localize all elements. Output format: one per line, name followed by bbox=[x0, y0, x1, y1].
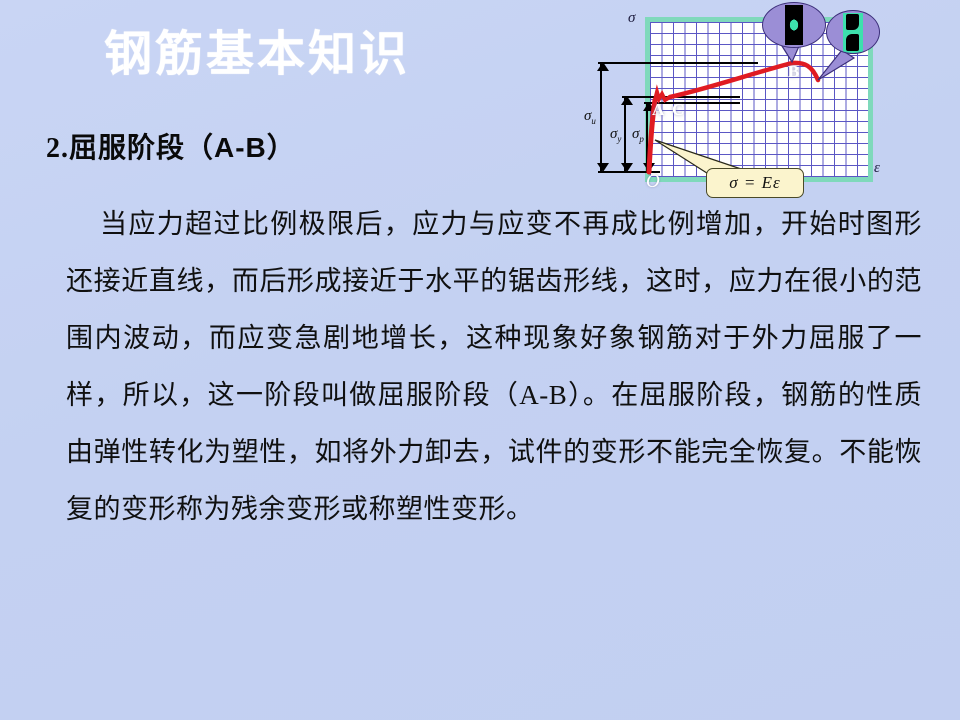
section-heading-range: A-B bbox=[214, 132, 267, 163]
section-heading: 2.屈服阶段（A-B） bbox=[46, 126, 296, 166]
section-number: 2. bbox=[46, 133, 69, 164]
body-paragraph: 当应力超过比例极限后，应力与应变不再成比例增加，开始时图形还接近直线，而后形成接… bbox=[66, 196, 922, 538]
page-title: 钢筋基本知识 bbox=[104, 14, 410, 84]
section-heading-prefix: 屈服阶段（ bbox=[69, 133, 214, 164]
section-heading-suffix: ） bbox=[267, 133, 296, 164]
necking-specimen-icon bbox=[785, 5, 803, 45]
slide-canvas: 钢筋基本知识 2.屈服阶段（A-B） 当应力超过比例极限后，应力与应变不再成比例… bbox=[0, 0, 960, 720]
fractured-specimen-callout bbox=[826, 10, 880, 54]
stress-strain-diagram: σ ε O σu σy σp bbox=[560, 0, 960, 210]
formula-callout: σ = Eε bbox=[706, 168, 804, 198]
necking-specimen-callout bbox=[762, 2, 826, 48]
fractured-specimen-icon bbox=[843, 13, 863, 53]
